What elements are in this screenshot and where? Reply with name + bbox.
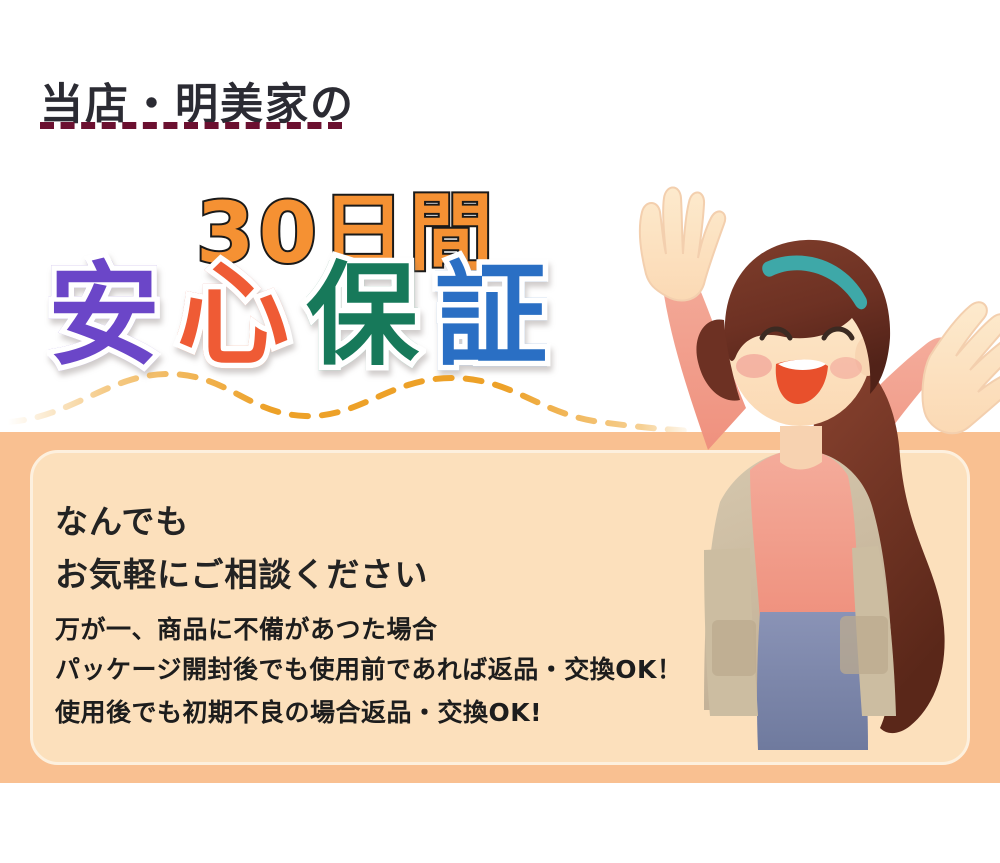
guarantee-char-ho: 保 [306, 260, 418, 372]
shop-name-dashed-underline [40, 122, 342, 129]
body-line-2: パッケージ開封後でも使用前であれば返品・交換OK！ [55, 650, 682, 686]
guarantee-char-sho: 証 [435, 260, 547, 372]
guarantee-banner: 当店・明美家の 30日間 安 心 保 証 なんでも お気軽にご相談ください 万が… [0, 0, 1000, 863]
cheerful-woman-illustration [600, 150, 1000, 770]
guarantee-char-an: 安 [48, 260, 160, 372]
lead-line-2: お気軽にご相談ください [55, 548, 428, 596]
body-line-3: 使用後でも初期不良の場合返品・交換OK! [55, 693, 542, 729]
body-line-1: 万が一、商品に不備があつた場合 [55, 610, 438, 646]
guarantee-headline: 安 心 保 証 [48, 260, 559, 372]
guarantee-char-shin: 心 [177, 260, 289, 372]
lead-line-1: なんでも [55, 495, 189, 543]
